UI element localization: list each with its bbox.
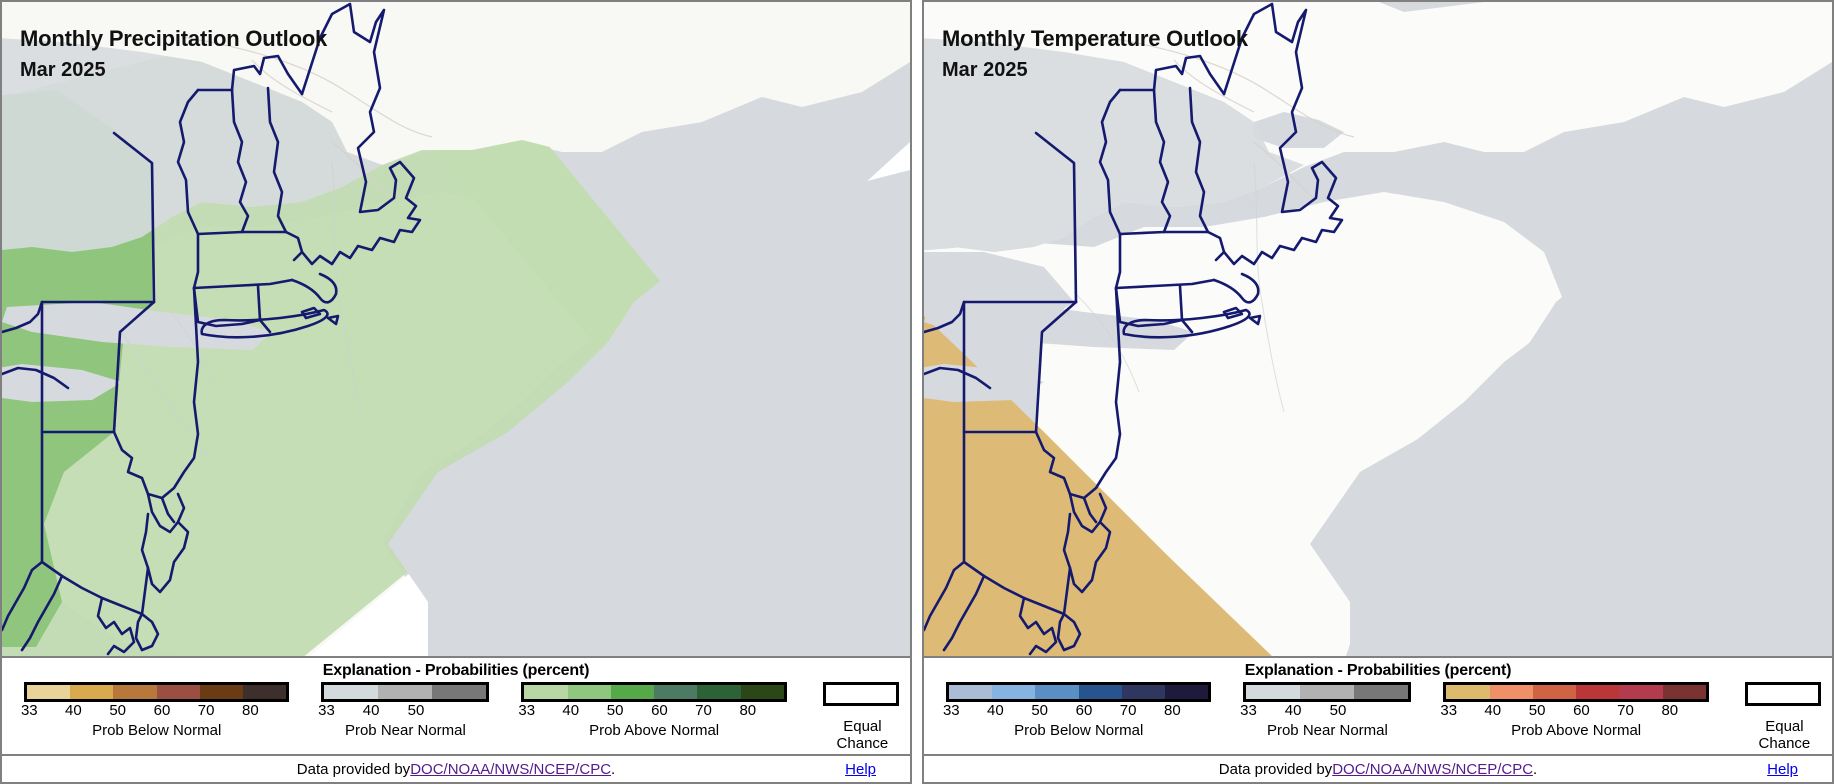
precipitation-map[interactable]: Monthly Precipitation Outlook Mar 2025 — [0, 0, 912, 658]
tick: 40 — [987, 702, 1004, 719]
legend-group-equal-chance: Equal Chance — [1745, 682, 1824, 752]
ticks-near-normal: 33 40 50 — [1243, 702, 1411, 721]
temperature-map[interactable]: Monthly Temperature Outlook Mar 2025 — [922, 0, 1834, 658]
tick: 60 — [1076, 702, 1093, 719]
colorbar-above-normal — [1443, 682, 1708, 702]
credit-suffix: . — [1533, 761, 1537, 778]
ticks-below-normal: 33 40 50 60 70 80 — [946, 702, 1211, 721]
ticks-above-normal: 33 40 50 60 70 80 — [1443, 702, 1708, 721]
credit-bar: Data provided by DOC/NOAA/NWS/NCEP/CPC. … — [924, 754, 1832, 782]
legend-group-above-normal: 33 40 50 60 70 80 Prob Above Normal — [1443, 682, 1708, 739]
cpc-link[interactable]: DOC/NOAA/NWS/NCEP/CPC — [1332, 761, 1533, 778]
legend-caption-near-normal: Prob Near Normal — [1243, 721, 1411, 739]
tick: 80 — [1661, 702, 1678, 719]
precipitation-panel: Monthly Precipitation Outlook Mar 2025 — [0, 0, 912, 784]
tick: 33 — [518, 702, 535, 719]
legend-caption-below-normal: Prob Below Normal — [946, 721, 1211, 739]
legend-group-above-normal: 33 40 50 60 70 80 Prob Above Normal — [521, 682, 786, 739]
colorbar-below-normal — [946, 682, 1211, 702]
tick: 80 — [242, 702, 259, 719]
tick: 50 — [1529, 702, 1546, 719]
tick: 33 — [1240, 702, 1257, 719]
tick: 50 — [607, 702, 624, 719]
credit-bar: Data provided by DOC/NOAA/NWS/NCEP/CPC. … — [2, 754, 910, 782]
cpc-link[interactable]: DOC/NOAA/NWS/NCEP/CPC — [410, 761, 611, 778]
legend-group-below-normal: 33 40 50 60 70 80 Prob Below Normal — [24, 682, 289, 739]
legend-group-near-normal: 33 40 50 Prob Near Normal — [321, 682, 489, 739]
tick: 50 — [109, 702, 126, 719]
tick: 70 — [198, 702, 215, 719]
legend-groups-row: 33 40 50 60 70 80 Prob Below Normal 33 — [924, 682, 1832, 754]
tick: 70 — [1617, 702, 1634, 719]
precipitation-map-svg — [2, 2, 910, 658]
tick: 60 — [1573, 702, 1590, 719]
help-link-container: Help — [845, 761, 876, 778]
legend-caption-equal-chance: Equal Chance — [1745, 706, 1824, 752]
credit-prefix: Data provided by — [1219, 761, 1332, 778]
legend-title: Explanation - Probabilities (percent) — [924, 658, 1832, 682]
tick: 33 — [943, 702, 960, 719]
precipitation-legend: Explanation - Probabilities (percent) 33… — [0, 658, 912, 784]
tick: 70 — [695, 702, 712, 719]
equal-chance-swatch — [1745, 682, 1821, 706]
tick: 50 — [1031, 702, 1048, 719]
help-link[interactable]: Help — [845, 761, 876, 778]
tick: 33 — [21, 702, 38, 719]
legend-caption-above-normal: Prob Above Normal — [1443, 721, 1708, 739]
tick: 70 — [1120, 702, 1137, 719]
legend-group-equal-chance: Equal Chance — [823, 682, 902, 752]
tick: 40 — [363, 702, 380, 719]
tick: 50 — [1330, 702, 1347, 719]
tick: 80 — [1164, 702, 1181, 719]
colorbar-near-normal — [321, 682, 489, 702]
tick: 40 — [65, 702, 82, 719]
credit-prefix: Data provided by — [297, 761, 410, 778]
tick: 50 — [408, 702, 425, 719]
legend-title: Explanation - Probabilities (percent) — [2, 658, 910, 682]
ticks-near-normal: 33 40 50 — [321, 702, 489, 721]
tick: 40 — [1285, 702, 1302, 719]
legend-caption-equal-chance: Equal Chance — [823, 706, 902, 752]
legend-caption-below-normal: Prob Below Normal — [24, 721, 289, 739]
tick: 40 — [1484, 702, 1501, 719]
legend-group-near-normal: 33 40 50 Prob Near Normal — [1243, 682, 1411, 739]
legend-caption-near-normal: Prob Near Normal — [321, 721, 489, 739]
outlook-panels-container: Monthly Precipitation Outlook Mar 2025 — [0, 0, 1834, 784]
tick: 33 — [1440, 702, 1457, 719]
tick: 80 — [739, 702, 756, 719]
colorbar-below-normal — [24, 682, 289, 702]
tick: 60 — [651, 702, 668, 719]
temperature-map-svg — [924, 2, 1832, 658]
legend-groups-row: 33 40 50 60 70 80 Prob Below Normal 33 — [2, 682, 910, 754]
colorbar-above-normal — [521, 682, 786, 702]
legend-group-below-normal: 33 40 50 60 70 80 Prob Below Normal — [946, 682, 1211, 739]
tick: 60 — [154, 702, 171, 719]
ticks-below-normal: 33 40 50 60 70 80 — [24, 702, 289, 721]
tick: 40 — [562, 702, 579, 719]
ticks-above-normal: 33 40 50 60 70 80 — [521, 702, 786, 721]
tick: 33 — [318, 702, 335, 719]
help-link[interactable]: Help — [1767, 761, 1798, 778]
temperature-legend: Explanation - Probabilities (percent) 33… — [922, 658, 1834, 784]
legend-caption-above-normal: Prob Above Normal — [521, 721, 786, 739]
help-link-container: Help — [1767, 761, 1798, 778]
credit-suffix: . — [611, 761, 615, 778]
temperature-panel: Monthly Temperature Outlook Mar 2025 — [922, 0, 1834, 784]
equal-chance-swatch — [823, 682, 899, 706]
colorbar-near-normal — [1243, 682, 1411, 702]
